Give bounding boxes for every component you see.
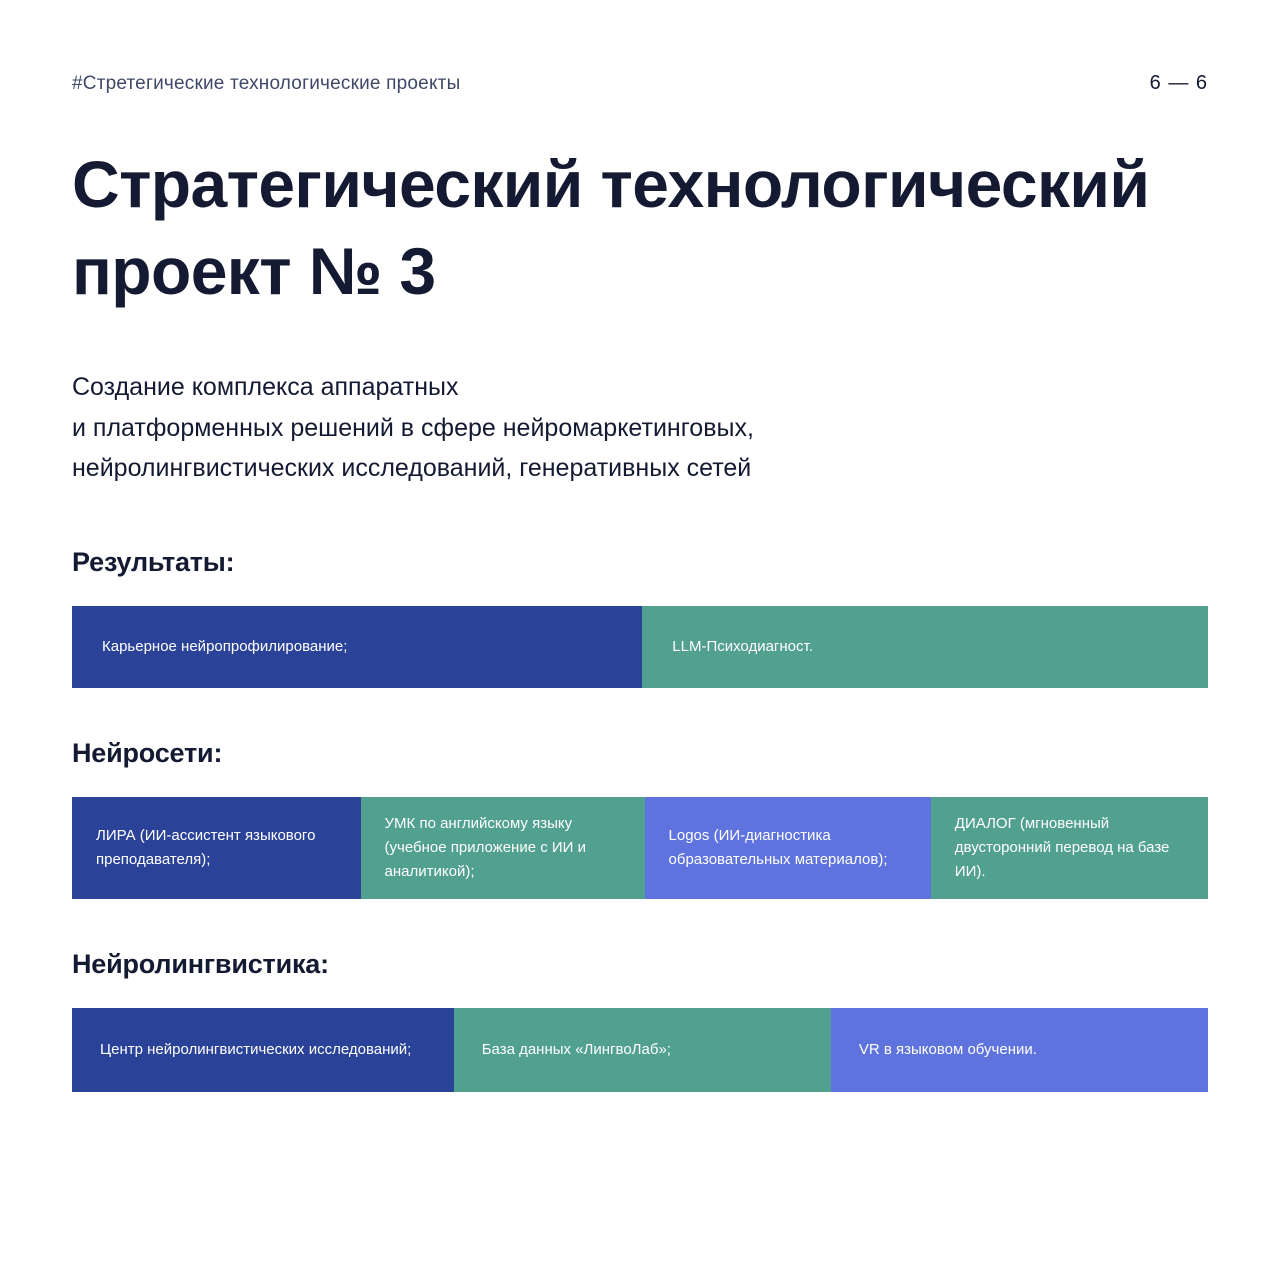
linguistics-cell-2[interactable]: База данных «ЛингвоЛаб»; <box>454 1008 831 1092</box>
subtitle-line-3: нейролингвистических исследований, генер… <box>72 448 1132 489</box>
hashtag-label: #Стретегические технологические проекты <box>72 73 460 95</box>
networks-cell-4-label: ДИАЛОГ (мгновенный двусторонний перевод … <box>955 812 1184 883</box>
networks-bar: ЛИРА (ИИ-ассистент языкового преподавате… <box>72 797 1208 899</box>
networks-cell-1[interactable]: ЛИРА (ИИ-ассистент языкового преподавате… <box>72 797 361 899</box>
networks-cell-2[interactable]: УМК по английскому языку (учебное прилож… <box>361 797 645 899</box>
results-cell-2[interactable]: LLM-Психодиагност. <box>642 606 1208 688</box>
linguistics-cell-2-label: База данных «ЛингвоЛаб»; <box>482 1038 671 1062</box>
networks-cell-3[interactable]: Logos (ИИ-диагностика образовательных ма… <box>645 797 931 899</box>
results-bar: Карьерное нейропрофилирование; LLM-Психо… <box>72 606 1208 688</box>
linguistics-bar: Центр нейролингвистических исследований;… <box>72 1008 1208 1092</box>
subtitle-line-1: Создание комплекса аппаратных <box>72 367 1132 408</box>
section-results: Результаты: Карьерное нейропрофилировани… <box>72 547 1208 688</box>
section-heading-linguistics: Нейролингвистика: <box>72 949 1208 980</box>
subtitle-block: Создание комплекса аппаратных и платформ… <box>72 367 1132 489</box>
networks-cell-1-label: ЛИРА (ИИ-ассистент языкового преподавате… <box>96 824 337 871</box>
slide-header: #Стретегические технологические проекты … <box>72 0 1208 95</box>
results-cell-1[interactable]: Карьерное нейропрофилирование; <box>72 606 642 688</box>
results-cell-2-label: LLM-Психодиагност. <box>672 635 813 659</box>
section-networks: Нейросети: ЛИРА (ИИ-ассистент языкового … <box>72 738 1208 899</box>
results-cell-1-label: Карьерное нейропрофилирование; <box>102 635 347 659</box>
title-block: Стратегический технологический проект № … <box>72 141 1208 315</box>
networks-cell-3-label: Logos (ИИ-диагностика образовательных ма… <box>669 824 907 871</box>
linguistics-cell-3-label: VR в языковом обучении. <box>859 1038 1037 1062</box>
section-heading-results: Результаты: <box>72 547 1208 578</box>
page-indicator: 6 — 6 <box>1150 72 1208 95</box>
section-linguistics: Нейролингвистика: Центр нейролингвистиче… <box>72 949 1208 1092</box>
slide-root: #Стретегические технологические проекты … <box>0 0 1280 1280</box>
linguistics-cell-3[interactable]: VR в языковом обучении. <box>831 1008 1208 1092</box>
linguistics-cell-1[interactable]: Центр нейролингвистических исследований; <box>72 1008 454 1092</box>
page-title: Стратегический технологический проект № … <box>72 141 1202 315</box>
networks-cell-2-label: УМК по английскому языку (учебное прилож… <box>385 812 621 883</box>
networks-cell-4[interactable]: ДИАЛОГ (мгновенный двусторонний перевод … <box>931 797 1208 899</box>
section-heading-networks: Нейросети: <box>72 738 1208 769</box>
linguistics-cell-1-label: Центр нейролингвистических исследований; <box>100 1038 411 1062</box>
title-line-1: Стратегический <box>72 147 583 221</box>
subtitle-line-2: и платформенных решений в сфере нейромар… <box>72 408 1132 449</box>
